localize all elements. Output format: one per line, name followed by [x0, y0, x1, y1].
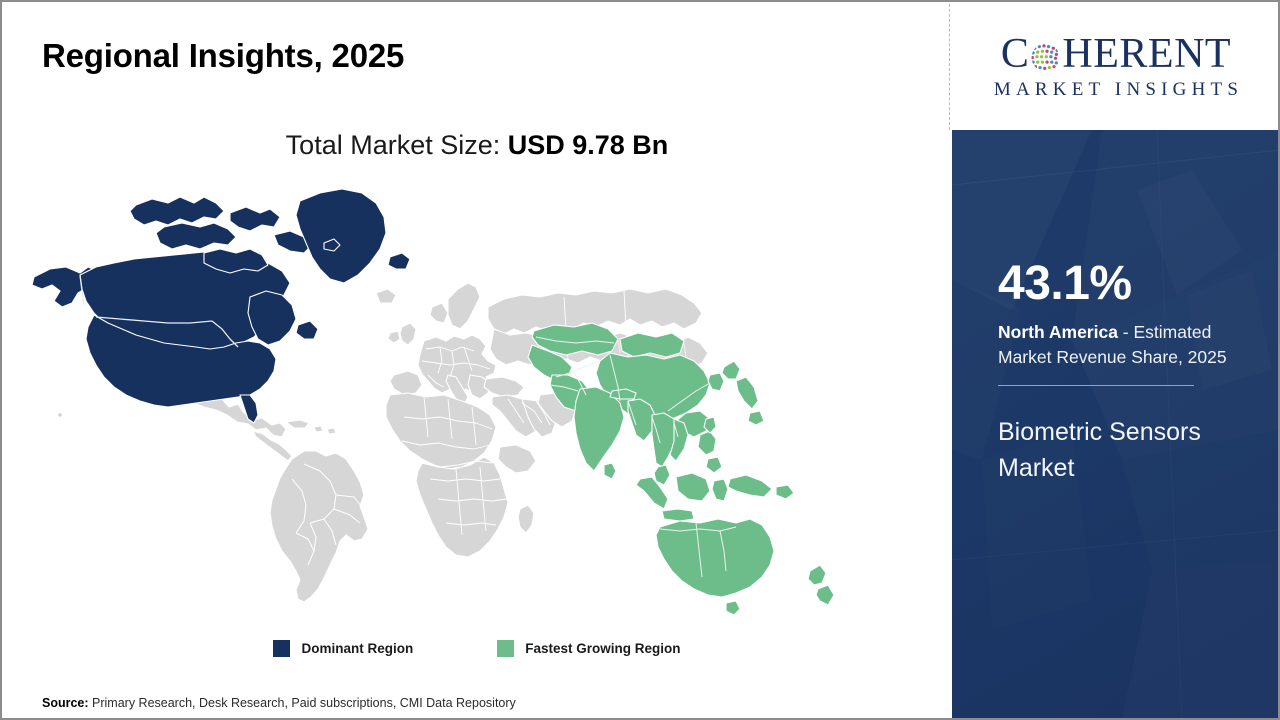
legend-label-fastest-growing: Fastest Growing Region	[525, 641, 680, 656]
legend-label-dominant: Dominant Region	[301, 641, 413, 656]
source-label: Source:	[42, 696, 89, 710]
legend-swatch-fastest-growing	[497, 640, 514, 657]
map-region-asia-pacific	[528, 323, 834, 615]
legend-swatch-dominant	[273, 640, 290, 657]
side-stat-panel: 43.1% North America - Estimated Market R…	[952, 130, 1280, 720]
source-note: Source: Primary Research, Desk Research,…	[42, 696, 516, 710]
share-region-name: North America	[998, 322, 1118, 342]
source-text: Primary Research, Desk Research, Paid su…	[89, 696, 516, 710]
map-region-north-america	[32, 189, 410, 423]
vertical-dashed-divider	[949, 4, 950, 130]
infographic-frame: Regional Insights, 2025 Total Market Siz…	[0, 0, 1280, 720]
brand-logo: C	[952, 4, 1280, 130]
world-map	[24, 179, 924, 619]
share-percentage: 43.1%	[998, 260, 1248, 308]
logo-wordmark: C	[1001, 33, 1231, 75]
market-name: Biometric Sensors Market	[998, 414, 1248, 487]
panel-divider-rule	[998, 385, 1194, 386]
legend-item-fastest-growing: Fastest Growing Region	[497, 640, 680, 657]
side-stat-content: 43.1% North America - Estimated Market R…	[998, 260, 1248, 486]
market-size-label: Total Market Size:	[286, 130, 508, 160]
page-title: Regional Insights, 2025	[42, 37, 404, 75]
map-islet	[58, 413, 61, 416]
logo-subtitle: MARKET INSIGHTS	[989, 79, 1243, 101]
logo-wordmark-text: HERENT	[1062, 33, 1231, 75]
share-description: North America - Estimated Market Revenue…	[998, 320, 1248, 371]
total-market-size: Total Market Size: USD 9.78 Bn	[4, 130, 950, 161]
world-map-svg	[24, 179, 924, 619]
logo-letter-c: C	[1001, 33, 1030, 75]
main-content-area: Regional Insights, 2025 Total Market Siz…	[4, 4, 950, 720]
dotted-globe-icon	[1030, 42, 1061, 73]
map-legend: Dominant Region Fastest Growing Region	[4, 640, 950, 657]
legend-item-dominant: Dominant Region	[273, 640, 413, 657]
market-size-value: USD 9.78 Bn	[508, 130, 669, 160]
